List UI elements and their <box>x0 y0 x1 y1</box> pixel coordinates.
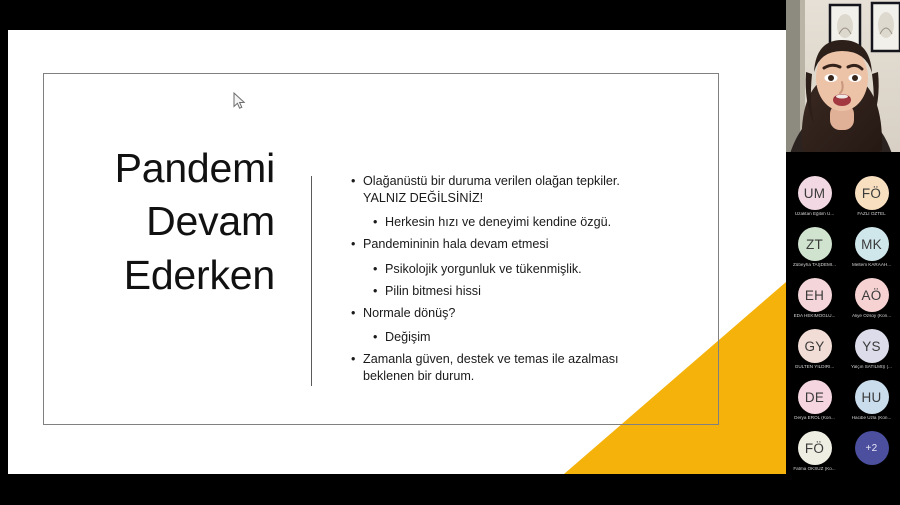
participant-tile[interactable]: EH EDA HEKİMOĞLU... <box>786 274 843 325</box>
avatar: EH <box>798 278 832 312</box>
participant-name: EDA HEKİMOĞLU... <box>794 314 836 319</box>
presentation-slide[interactable]: Pandemi Devam Ederken • Olağanüstü bir d… <box>8 30 786 474</box>
participant-name: Derya EROL (Kon... <box>794 416 835 421</box>
bullet-item: • Normale dönüş? <box>349 305 649 322</box>
bullet-item: • Pilin bitmesi hissi <box>349 283 649 300</box>
participant-name: GÜLTEN YILDIRI... <box>795 365 834 370</box>
participant-name: Zübeyha TAŞDEMİ... <box>793 263 836 268</box>
participant-tile[interactable]: MK Meltem KARAAH... <box>843 223 900 274</box>
bullet-item: • Pandemininin hala devam etmesi <box>349 236 649 253</box>
participant-tile[interactable]: FÖ Fatma ÖKSÜZ (Ko... <box>786 427 843 478</box>
meeting-window: Pandemi Devam Ederken • Olağanüstü bir d… <box>0 0 900 505</box>
participant-tile[interactable]: UM Uzaktan Eğitim U... <box>786 172 843 223</box>
avatar: MK <box>855 227 889 261</box>
self-video-tile[interactable] <box>786 0 900 160</box>
bullet-text: Pandemininin hala devam etmesi <box>363 236 649 253</box>
participant-tile[interactable]: FÖ FAZLI ÖZTEL <box>843 172 900 223</box>
participant-tile[interactable]: YS Yalçın SATILMIŞ (... <box>843 325 900 376</box>
avatar: FÖ <box>798 431 832 465</box>
avatar: UM <box>798 176 832 210</box>
bullet-item: • Değişim <box>349 329 649 346</box>
avatar: YS <box>855 329 889 363</box>
bullet-text: Pilin bitmesi hissi <box>385 283 649 300</box>
slide-bullet-list: • Olağanüstü bir duruma verilen olağan t… <box>349 173 649 392</box>
participant-tile[interactable]: HU Hacibe Uzla (Kon... <box>843 376 900 427</box>
bullet-text: Olağanüstü bir duruma verilen olağan tep… <box>363 173 649 207</box>
bullet-text: Zamanla güven, destek ve temas ile azalm… <box>363 351 649 385</box>
participant-name: Aliye Özsoy (Kon... <box>852 314 891 319</box>
participant-tile[interactable]: GY GÜLTEN YILDIRI... <box>786 325 843 376</box>
participant-name: Yalçın SATILMIŞ (... <box>851 365 892 370</box>
participant-name: Uzaktan Eğitim U... <box>795 212 834 217</box>
participant-tile[interactable]: AÖ Aliye Özsoy (Kon... <box>843 274 900 325</box>
avatar: FÖ <box>855 176 889 210</box>
bullet-glyph: • <box>373 329 377 346</box>
participant-name: Hacibe Uzla (Kon... <box>852 416 892 421</box>
avatar: GY <box>798 329 832 363</box>
participant-name: Meltem KARAAH... <box>852 263 891 268</box>
avatar: ZT <box>798 227 832 261</box>
avatar: HU <box>855 380 889 414</box>
bullet-glyph: • <box>373 283 377 300</box>
bullet-item: • Psikolojik yorgunluk ve tükenmişlik. <box>349 261 649 278</box>
bullet-glyph: • <box>351 236 355 253</box>
bullet-text: Normale dönüş? <box>363 305 649 322</box>
participant-rail[interactable]: UM Uzaktan Eğitim U... FÖ FAZLI ÖZTEL ZT… <box>786 0 900 505</box>
avatar: AÖ <box>855 278 889 312</box>
bullet-item: • Herkesin hızı ve deneyimi kendine özgü… <box>349 214 649 231</box>
bullet-item: • Zamanla güven, destek ve temas ile aza… <box>349 351 649 385</box>
participant-name: Fatma ÖKSÜZ (Ko... <box>793 467 835 472</box>
slide-title: Pandemi Devam Ederken <box>43 142 275 302</box>
bullet-glyph: • <box>351 173 355 190</box>
bullet-glyph: • <box>373 261 377 278</box>
participant-tile-grid[interactable]: UM Uzaktan Eğitim U... FÖ FAZLI ÖZTEL ZT… <box>786 172 900 478</box>
avatar: DE <box>798 380 832 414</box>
bullet-glyph: • <box>351 351 355 368</box>
bullet-text: Psikolojik yorgunluk ve tükenmişlik. <box>385 261 649 278</box>
overflow-count-badge: +2 <box>855 431 889 465</box>
bullet-text: Değişim <box>385 329 649 346</box>
bullet-glyph: • <box>373 214 377 231</box>
bullet-text: Herkesin hızı ve deneyimi kendine özgü. <box>385 214 649 231</box>
participant-name: FAZLI ÖZTEL <box>857 212 885 217</box>
webcam-video-feed <box>786 0 900 160</box>
bullet-item: • Olağanüstü bir duruma verilen olağan t… <box>349 173 649 207</box>
participant-overflow-tile[interactable]: +2 <box>843 427 900 478</box>
participant-tile[interactable]: DE Derya EROL (Kon... <box>786 376 843 427</box>
bullet-glyph: • <box>351 305 355 322</box>
participant-tile[interactable]: ZT Zübeyha TAŞDEMİ... <box>786 223 843 274</box>
title-divider <box>311 176 312 386</box>
shared-screen-stage[interactable]: Pandemi Devam Ederken • Olağanüstü bir d… <box>0 0 786 505</box>
